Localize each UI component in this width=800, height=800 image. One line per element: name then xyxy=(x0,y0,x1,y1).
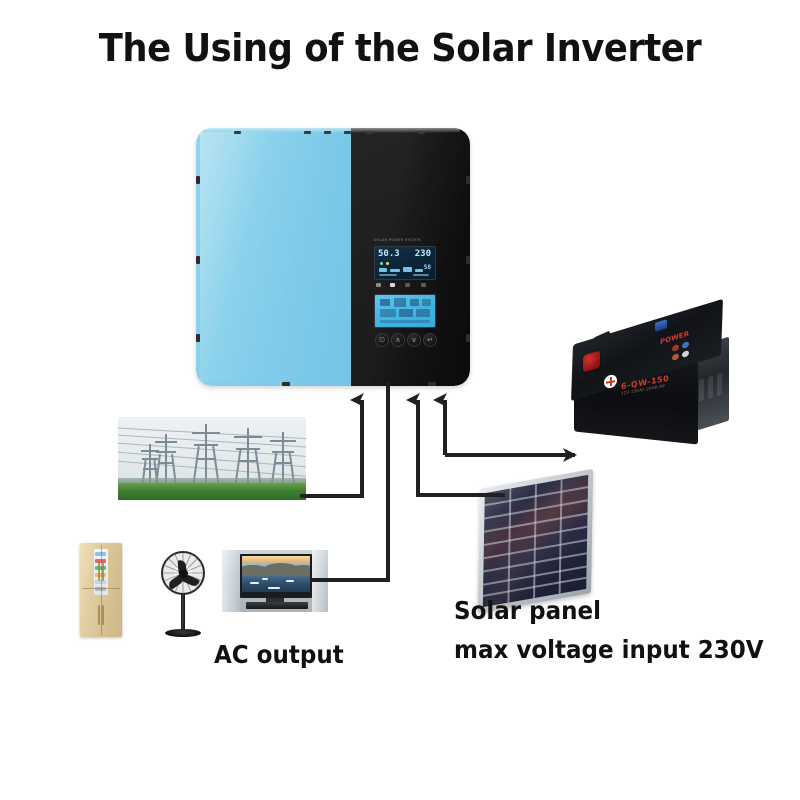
fridge-handle xyxy=(102,605,104,625)
vent-slot xyxy=(418,131,425,134)
inverter-body: SOLAR POWER SYSTEM 50.3 230 58 xyxy=(196,128,470,386)
lcd-value-right: 230 xyxy=(415,250,431,259)
label-solar-panel: Solar panel xyxy=(454,596,601,625)
lead-acid-battery[interactable]: POWER 6-QW-150 12V 150Ah 20HR MF xyxy=(568,312,733,445)
fridge-handle xyxy=(102,561,104,581)
vent-slot xyxy=(366,131,373,134)
tv-boat xyxy=(250,582,259,584)
panel-inner xyxy=(478,469,593,613)
lcd-value-small: 58 xyxy=(424,264,431,271)
fridge-handle xyxy=(98,561,100,581)
vent-slot xyxy=(234,131,241,134)
indicator-icon xyxy=(376,283,381,287)
lcd-header-text: SOLAR POWER SYSTEM xyxy=(374,238,434,243)
vent-slot xyxy=(344,131,351,134)
lcd-icon-block xyxy=(410,299,419,306)
lcd-icon-block xyxy=(380,320,430,323)
side-tab xyxy=(466,256,470,264)
lcd-value-left: 50.3 xyxy=(378,250,400,259)
lcd-bar xyxy=(379,268,387,272)
room-background xyxy=(222,550,240,612)
fan-head xyxy=(161,551,205,595)
tv-bezel xyxy=(240,554,312,598)
foreground-vegetation xyxy=(118,483,306,500)
indicator-icon xyxy=(421,283,426,287)
up-button[interactable]: ∧ xyxy=(391,333,405,347)
lcd-status-dot xyxy=(380,262,383,265)
lcd-icon-block xyxy=(422,299,431,306)
side-tab xyxy=(196,334,200,342)
television-monitor xyxy=(222,550,328,612)
inverter-button-row[interactable]: ⎋ ∧ ∨ ↵ xyxy=(375,333,435,347)
side-tab xyxy=(466,176,470,184)
page-title: The Using of the Solar Inverter xyxy=(28,26,772,70)
inverter-upper-lcd: 50.3 230 58 xyxy=(374,246,436,280)
bottom-tab xyxy=(282,382,290,386)
enter-button[interactable]: ↵ xyxy=(423,333,437,347)
label-solar-max-voltage: max voltage input 230V xyxy=(454,635,764,664)
room-background xyxy=(312,550,328,612)
label-ac-output: AC output xyxy=(214,640,344,669)
tv-boat xyxy=(268,587,280,589)
fan-hub xyxy=(179,569,188,578)
lcd-icon-block xyxy=(416,309,430,317)
tv-hill xyxy=(290,565,310,575)
lcd-bar xyxy=(379,274,397,276)
side-tab xyxy=(466,334,470,342)
solar-inverter[interactable]: SOLAR POWER SYSTEM 50.3 230 58 xyxy=(196,128,470,386)
lcd-bar xyxy=(415,269,423,272)
vent-slot xyxy=(304,131,311,134)
transmission-towers-photo xyxy=(118,417,306,500)
down-button[interactable]: ∨ xyxy=(407,333,421,347)
side-tab xyxy=(196,176,200,184)
lcd-bar xyxy=(403,267,412,272)
panel-cells xyxy=(483,475,588,607)
refrigerator xyxy=(80,543,122,637)
inverter-lower-lcd xyxy=(374,294,436,328)
keyboard xyxy=(246,602,308,609)
fan-base xyxy=(165,629,201,637)
tv-screen-image xyxy=(242,556,310,592)
lcd-status-dot xyxy=(386,262,389,265)
lcd-bar xyxy=(390,269,400,272)
fan-pole xyxy=(181,593,185,629)
fridge-handle xyxy=(98,605,100,625)
diagram-canvas: The Using of the Solar Inverter SOLAR P xyxy=(0,0,800,800)
photovoltaic-panel xyxy=(478,480,593,602)
panel-glass-sheen xyxy=(483,475,588,607)
inverter-indicator-row xyxy=(374,282,434,289)
side-tab xyxy=(196,256,200,264)
lcd-icon-block xyxy=(399,309,413,317)
esc-button[interactable]: ⎋ xyxy=(375,333,389,347)
lcd-icon-block xyxy=(380,309,396,317)
tv-boat xyxy=(262,578,268,580)
wire-grid-to-inverter xyxy=(300,400,362,496)
bottom-tab xyxy=(428,382,436,386)
transmission-tower xyxy=(192,424,220,486)
tv-boat xyxy=(286,580,294,582)
fridge-door-seam xyxy=(82,588,120,589)
battery-rib xyxy=(708,376,713,400)
indicator-icon xyxy=(390,283,395,287)
lcd-icon-block xyxy=(380,299,390,306)
indicator-icon xyxy=(405,283,410,287)
lcd-icon-block xyxy=(394,298,406,307)
battery-rib xyxy=(717,373,722,397)
battery-rib xyxy=(699,378,704,402)
pedestal-fan xyxy=(155,551,211,637)
inverter-left-panel xyxy=(196,128,351,386)
lcd-bar xyxy=(413,274,429,276)
vent-slot xyxy=(324,131,331,134)
